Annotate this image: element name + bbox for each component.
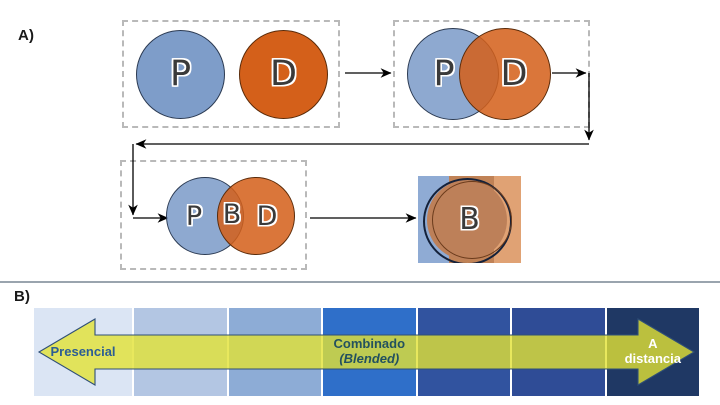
- continuum-label-presencial: Presencial: [51, 345, 116, 360]
- circle-letter: P: [433, 57, 454, 92]
- continuum-label-distancia: A distancia: [625, 337, 681, 366]
- circle-letter: P: [186, 203, 202, 230]
- continuum-segment-1[interactable]: Presencial: [33, 307, 133, 397]
- distancia-text: distancia: [625, 352, 681, 367]
- diagram-canvas: A) P D P D P D B B: [0, 0, 720, 405]
- circle-letter: D: [257, 203, 278, 230]
- blended-result-thumbnail: B: [418, 176, 521, 263]
- circle-distancia-2: D: [459, 28, 551, 120]
- continuum-bar: Presencial Combinado (Blended) A distanc…: [33, 307, 700, 397]
- continuum-label-combinado: Combinado (Blended): [334, 337, 406, 366]
- section-a-label: A): [18, 27, 34, 44]
- continuum-segment-3[interactable]: [228, 307, 323, 397]
- continuum-segment-4[interactable]: Combinado (Blended): [322, 307, 417, 397]
- section-divider: [0, 281, 720, 283]
- circle-presencial-1: P: [136, 30, 225, 119]
- continuum-segments: Presencial Combinado (Blended) A distanc…: [33, 307, 700, 397]
- circle-letter: D: [501, 57, 528, 92]
- continuum-segment-6[interactable]: [511, 307, 606, 397]
- circle-blended-3: B: [218, 200, 246, 228]
- circle-letter: B: [223, 201, 242, 228]
- circle-letter: P: [170, 57, 191, 92]
- continuum-segment-7[interactable]: A distancia: [606, 307, 701, 397]
- circle-letter: D: [270, 57, 297, 92]
- section-b-label: B): [14, 288, 30, 305]
- blended-text: (Blended): [334, 352, 406, 367]
- continuum-segment-5[interactable]: [417, 307, 512, 397]
- circle-distancia-1: D: [239, 30, 328, 119]
- circle-letter: B: [459, 205, 480, 235]
- continuum-segment-2[interactable]: [133, 307, 228, 397]
- a-text: A: [648, 336, 657, 351]
- thumb-letter-wrap: B: [418, 176, 521, 263]
- combinado-text: Combinado: [334, 336, 406, 351]
